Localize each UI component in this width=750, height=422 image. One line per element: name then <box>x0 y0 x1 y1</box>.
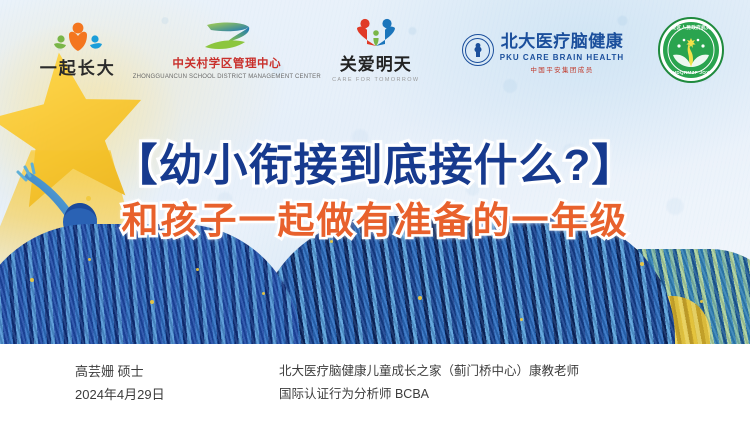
care-for-tomorrow-heart-icon <box>353 18 399 48</box>
logo-care-for-tomorrow-name-en: CARE FOR TOMORROW <box>332 77 419 83</box>
logo-care-for-tomorrow-name: 关爱明天 <box>340 50 412 75</box>
logo-zhongguancun: 中关村学区管理中心 ZHONGGUANCUN SCHOOL DISTRICT M… <box>164 20 290 81</box>
gold-fleck <box>640 262 644 266</box>
page-title: 【幼小衔接到底接什么?】 <box>0 138 750 194</box>
gold-fleck <box>520 318 523 321</box>
zhongguancun-ribbon-icon <box>199 20 255 52</box>
speaker-credential: 国际认证行为分析师 BCBA <box>279 387 579 402</box>
headline-block: 【幼小衔接到底接什么?】 和孩子一起做有准备的一年级 <box>0 138 750 244</box>
gold-fleck <box>88 258 91 261</box>
gold-fleck <box>418 296 422 300</box>
haidian-kindergarten-seal-icon: 北京海淀区人民政府机关幼儿园 BJHDQRMZF JOYEY <box>658 17 724 83</box>
logo-pku-subtitle: 中国平安集团成员 <box>530 64 593 74</box>
gold-fleck <box>30 278 34 282</box>
gold-fleck <box>700 300 703 303</box>
poster-slide: 一起长大 <box>0 0 750 422</box>
logo-zhongguancun-name: 中关村学区管理中心 <box>172 55 281 71</box>
logo-pku-care-brain-health: 北大医疗脑健康 PKU CARE BRAIN HEALTH 中国平安集团成员 <box>462 27 624 74</box>
logo-zhongguancun-name-en: ZHONGGUANCUN SCHOOL DISTRICT MANAGEMENT … <box>133 73 321 81</box>
footer-right-column: 北大医疗脑健康儿童成长之家（蓟门桥中心）康教老师 国际认证行为分析师 BCBA <box>279 364 579 402</box>
partner-logo-row: 一起长大 <box>0 6 750 94</box>
logo-pku-name: 北大医疗脑健康 <box>501 27 624 52</box>
gold-fleck <box>196 268 199 271</box>
haidian-kindergarten-name-en: BJHDQRMZF JOYEY <box>666 70 716 75</box>
logo-yiqizhangda-name: 一起长大 <box>40 54 116 79</box>
pku-text-block: 北大医疗脑健康 PKU CARE BRAIN HEALTH 中国平安集团成员 <box>500 27 624 74</box>
logo-care-for-tomorrow: 关爱明天 CARE FOR TOMORROW <box>324 18 428 83</box>
page-subtitle: 和孩子一起做有准备的一年级 <box>0 198 750 244</box>
haidian-kindergarten-name-cn: 北京海淀区人民政府机关幼儿园 <box>658 25 724 31</box>
speaker-affiliation: 北大医疗脑健康儿童成长之家（蓟门桥中心）康教老师 <box>279 364 579 379</box>
footer-bar: 高芸姗 硕士 2024年4月29日 北大医疗脑健康儿童成长之家（蓟门桥中心）康教… <box>0 344 750 422</box>
logo-yiqizhangda: 一起长大 <box>26 22 130 79</box>
event-date: 2024年4月29日 <box>75 387 265 402</box>
illustration-stage: 一起长大 <box>0 0 750 344</box>
logo-pku-name-en: PKU CARE BRAIN HEALTH <box>500 53 624 62</box>
footer-left-column: 高芸姗 硕士 2024年4月29日 <box>75 364 265 402</box>
yiqizhangda-mark-icon <box>48 22 108 52</box>
pku-seal-icon <box>462 34 494 66</box>
gold-fleck <box>150 300 154 304</box>
gold-fleck <box>262 292 265 295</box>
speaker-name: 高芸姗 硕士 <box>75 364 265 379</box>
logo-haidian-kindergarten: 北京海淀区人民政府机关幼儿园 BJHDQRMZF JOYEY <box>658 17 724 83</box>
